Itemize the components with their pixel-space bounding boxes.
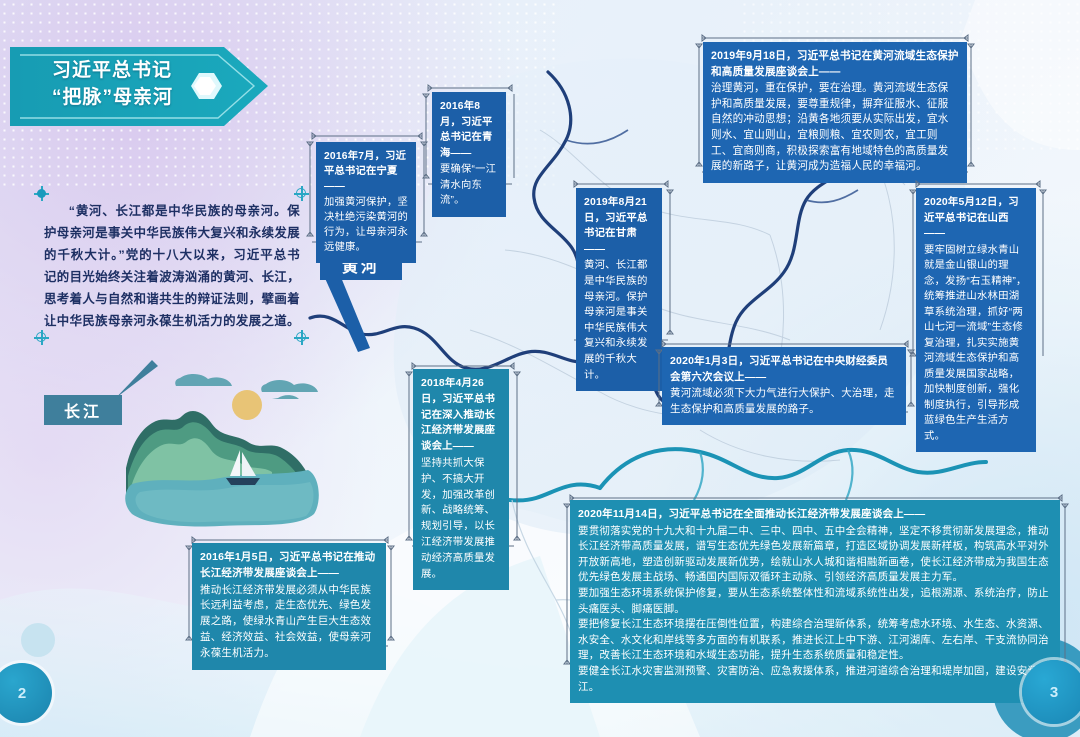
callout-qinghai-2016-08[interactable]: 2016年8月，习近平总书记在青海—— 要确保“一江清水向东流”。 — [432, 92, 506, 217]
callout-body: 加强黄河保护，坚决杜绝污染黄河的行为，让母亲河永远健康。 — [324, 195, 408, 255]
callout-heading: 2016年8月，习近平总书记在青海—— — [440, 99, 498, 161]
river-label-yangtze: 长江 — [44, 395, 122, 425]
sun-icon — [232, 390, 262, 420]
callout-yellow-river-forum-2019[interactable]: 2019年9月18日，习近平总书记在黄河流域生态保护和高质量发展座谈会上—— 治… — [703, 42, 967, 183]
callout-yangtze-belt-2020-11[interactable]: 2020年11月14日，习近平总书记在全面推动长江经济带发展座谈会上—— 要贯彻… — [570, 500, 1060, 703]
callout-body: 治理黄河，重在保护，要在治理。黄河流域生态保护和高质量发展，要尊重规律，摒弃征服… — [711, 81, 959, 175]
banner-title-line1: 习近平总书记 — [52, 57, 222, 84]
corner-mark-br — [294, 330, 309, 345]
callout-yangtze-belt-2016-01[interactable]: 2016年1月5日，习近平总书记在推动长江经济带发展座谈会上—— 推动长江经济带… — [192, 543, 386, 670]
infographic-page: 习近平总书记 “把脉”母亲河 “黄河、长江都是中华民族的母亲河。保护母亲河是事关… — [0, 0, 1080, 737]
callout-yangtze-belt-2018-04[interactable]: 2018年4月26日，习近平总书记在深入推动长江经济带发展座谈会上—— 坚持共抓… — [413, 369, 509, 590]
callout-body: 要确保“一江清水向东流”。 — [440, 162, 498, 209]
callout-heading: 2019年8月21日，习近平总书记在甘肃—— — [584, 195, 654, 257]
callout-body: 黄河流域必须下大力气进行大保护、大治理，走生态保护和高质量发展的路子。 — [670, 386, 898, 417]
callout-paragraph-2: 要加强生态环境系统保护修复，要从生态系统整体性和流域系统性出发，追根溯源、系统治… — [578, 586, 1052, 617]
title-banner: 习近平总书记 “把脉”母亲河 — [10, 43, 272, 130]
corner-mark-tr — [294, 186, 309, 201]
callout-paragraph-1: 要贯彻落实党的十九大和十九届二中、三中、四中、五中全会精神，坚定不移贯彻新发展理… — [578, 524, 1052, 586]
intro-paragraph: “黄河、长江都是中华民族的母亲河。保护母亲河是事关中华民族伟大复兴和永续发展的千… — [44, 200, 300, 332]
callout-heading: 2016年7月，习近平总书记在宁夏—— — [324, 149, 408, 194]
callout-body: 推动长江经济带发展必须从中华民族长远利益考虑，走生态优先、绿色发展之路，使绿水青… — [200, 583, 378, 662]
callout-central-finance-2020-01[interactable]: 2020年1月3日，习近平总书记在中央财经委员会第六次会议上—— 黄河流域必须下… — [662, 347, 906, 425]
callout-gansu-2019-08[interactable]: 2019年8月21日，习近平总书记在甘肃—— 黄河、长江都是中华民族的母亲河。保… — [576, 188, 662, 391]
callout-paragraph-4: 要健全长江水灾害监测预警、灾害防治、应急救援体系，推进河道综合治理和堤岸加固，建… — [578, 664, 1052, 695]
page-number-right: 3 — [1022, 660, 1080, 724]
corner-mark-bl — [34, 330, 49, 345]
intro-text: “黄河、长江都是中华民族的母亲河。保护母亲河是事关中华民族伟大复兴和永续发展的千… — [44, 200, 300, 332]
callout-heading: 2020年1月3日，习近平总书记在中央财经委员会第六次会议上—— — [670, 354, 898, 385]
callout-heading: 2019年9月18日，习近平总书记在黄河流域生态保护和高质量发展座谈会上—— — [711, 49, 959, 80]
callout-body: 黄河、长江都是中华民族的母亲河。保护母亲河是事关中华民族伟大复兴和永续发展的千秋… — [584, 258, 654, 383]
callout-body: 坚持共抓大保护、不搞大开发，加强改革创新、战略统筹、规划引导，以长江经济带发展推… — [421, 456, 501, 582]
corner-mark-tl — [34, 186, 49, 201]
callout-paragraph-3: 要把修复长江生态环境摆在压倒性位置，构建综合治理新体系，统筹考虑水环境、水生态、… — [578, 617, 1052, 664]
callout-heading: 2020年5月12日，习近平总书记在山西—— — [924, 195, 1028, 242]
callout-heading: 2016年1月5日，习近平总书记在推动长江经济带发展座谈会上—— — [200, 550, 378, 582]
callout-ningxia-2016-07[interactable]: 2016年7月，习近平总书记在宁夏—— 加强黄河保护，坚决杜绝污染黄河的行为，让… — [316, 142, 416, 263]
banner-title: 习近平总书记 “把脉”母亲河 — [52, 57, 222, 111]
callout-heading: 2020年11月14日，习近平总书记在全面推动长江经济带发展座谈会上—— — [578, 507, 1052, 523]
callout-body: 要牢固树立绿水青山就是金山银山的理念，发扬“右玉精神”，统筹推进山水林田湖草系统… — [924, 243, 1028, 445]
callout-heading: 2018年4月26日，习近平总书记在深入推动长江经济带发展座谈会上—— — [421, 376, 501, 455]
callout-shanxi-2020-05[interactable]: 2020年5月12日，习近平总书记在山西—— 要牢固树立绿水青山就是金山银山的理… — [916, 188, 1036, 452]
banner-title-line2: “把脉”母亲河 — [52, 84, 222, 111]
